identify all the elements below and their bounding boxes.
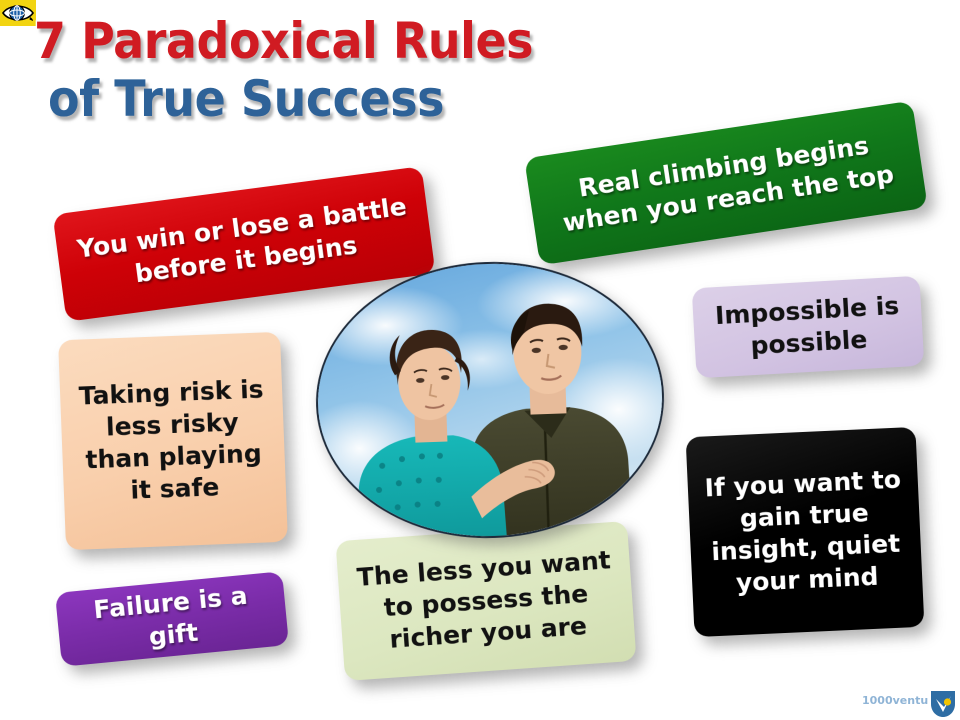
rule-text: Impossible is possible: [706, 289, 909, 364]
rule-text: Taking risk is less risky than playing i…: [74, 373, 273, 508]
watermark-text: 1000ventu: [862, 694, 928, 707]
rule-card-insight[interactable]: If you want to gain true insight, quiet …: [686, 427, 925, 637]
rule-card-impossible[interactable]: Impossible is possible: [692, 276, 925, 379]
globe-eye-icon: [2, 2, 34, 24]
rule-text: The less you want to possess the richer …: [351, 544, 621, 658]
title-line-1: 7 Paradoxical Rules: [34, 12, 604, 70]
rule-card-failure[interactable]: Failure is a gift: [55, 571, 289, 667]
rule-card-risk[interactable]: Taking risk is less risky than playing i…: [58, 332, 288, 550]
globe-eye-logo: [0, 0, 36, 26]
watermark: 1000ventu: [862, 694, 928, 707]
v-checkmark-icon: [930, 690, 956, 718]
couple-looking-up-photo: [311, 256, 668, 544]
rule-text: If you want to gain true insight, quiet …: [701, 463, 909, 600]
rule-text: Failure is a gift: [69, 578, 274, 661]
rule-text: You win or lose a battle before it begin…: [69, 190, 418, 298]
slide-canvas: 7 Paradoxical Rules of True Success You …: [0, 0, 960, 720]
rule-card-possess[interactable]: The less you want to possess the richer …: [335, 521, 636, 681]
title-line-2: of True Success: [48, 70, 606, 128]
page-title: 7 Paradoxical Rules of True Success: [34, 12, 654, 128]
rule-text: Real climbing begins when you reach the …: [541, 124, 910, 241]
